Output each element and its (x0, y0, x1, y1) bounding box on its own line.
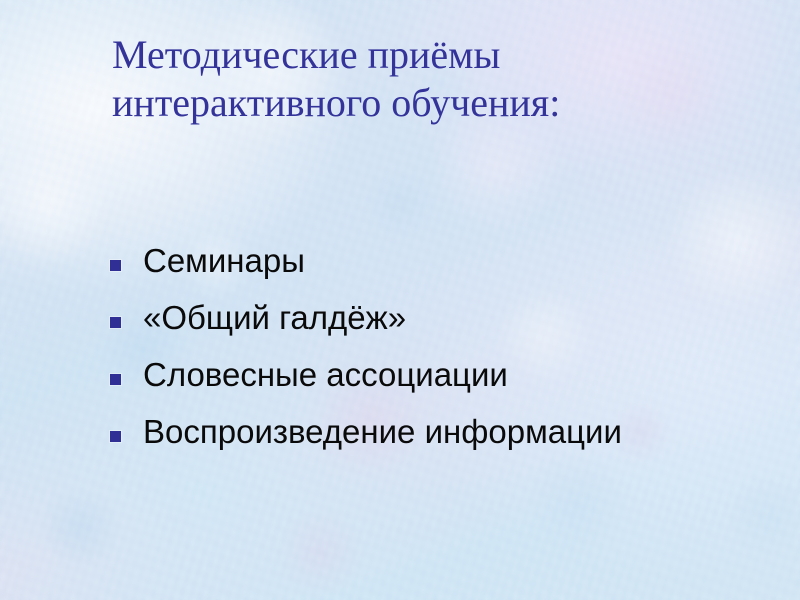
slide-content: Методические приёмы интерактивного обуче… (0, 0, 800, 600)
slide-bullet-list: Семинары «Общий галдёж» Словесные ассоци… (110, 232, 800, 460)
bullet-item-label-4: Воспроизведение информации (143, 413, 622, 451)
slide-title: Методические приёмы интерактивного обуче… (112, 31, 712, 127)
list-item: Семинары (110, 232, 800, 289)
list-item: Словесные ассоциации (110, 346, 800, 403)
bullet-item-label-2: «Общий галдёж» (143, 299, 406, 337)
bullet-item-label-3: Словесные ассоциации (143, 356, 508, 394)
square-bullet-icon (110, 317, 121, 328)
presentation-slide: Методические приёмы интерактивного обуче… (0, 0, 800, 600)
slide-title-line-1: Методические приёмы (112, 31, 712, 79)
slide-title-line-2: интерактивного обучения: (112, 79, 712, 127)
square-bullet-icon (110, 431, 121, 442)
bullet-item-label-1: Семинары (143, 242, 305, 280)
square-bullet-icon (110, 374, 121, 385)
list-item: Воспроизведение информации (110, 403, 800, 460)
list-item: «Общий галдёж» (110, 289, 800, 346)
square-bullet-icon (110, 260, 121, 271)
